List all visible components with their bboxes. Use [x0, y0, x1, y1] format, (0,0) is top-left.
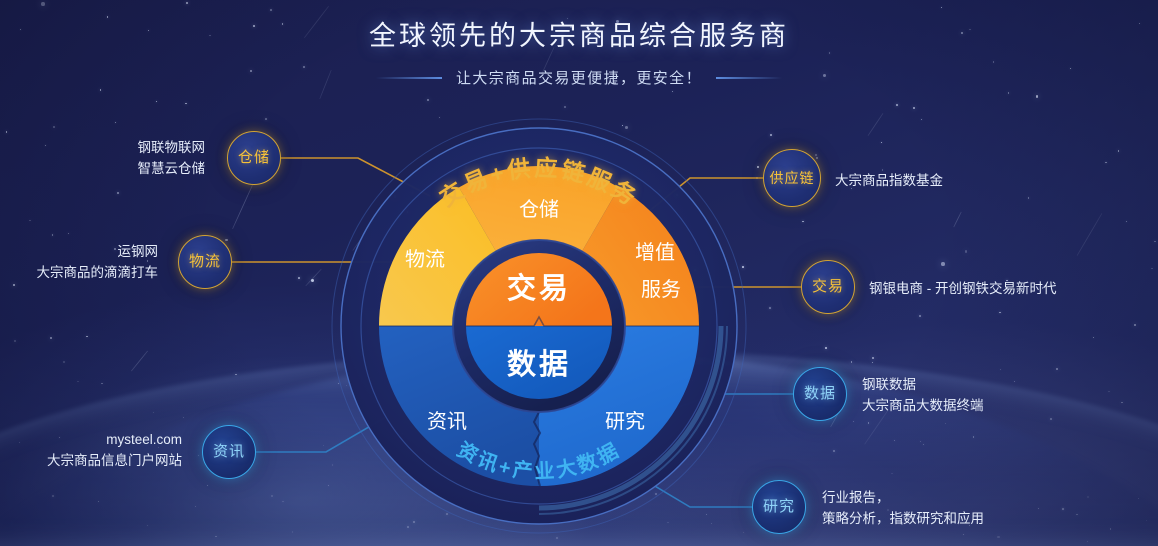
badge-supply-chain[interactable]: 供应链: [763, 149, 821, 207]
subtitle-row: 让大宗商品交易更便捷，更安全！: [0, 67, 1158, 88]
caption-warehouse-line1: 钢联物联网: [0, 138, 205, 159]
segment-label-warehouse: 仓储: [519, 198, 559, 221]
caption-warehouse: 钢联物联网 智慧云仓储: [0, 138, 205, 180]
page-title: 全球领先的大宗商品综合服务商: [0, 14, 1158, 53]
badge-information[interactable]: 资讯: [202, 425, 256, 479]
page-subtitle: 让大宗商品交易更便捷，更安全！: [456, 67, 702, 88]
caption-trading: 钢银电商 - 开创钢铁交易新时代: [869, 279, 1057, 300]
caption-warehouse-line2: 智慧云仓储: [0, 159, 205, 180]
caption-research-line1: 行业报告，: [822, 488, 984, 509]
caption-research-line2: 策略分析，指数研究和应用: [822, 509, 984, 530]
badge-logistics[interactable]: 物流: [178, 235, 232, 289]
segment-label-information: 资讯: [427, 410, 467, 433]
segment-label-value-added-1: 增值: [635, 241, 675, 264]
core-label-data: 数据: [507, 348, 571, 381]
caption-information: mysteel.com 大宗商品信息门户网站: [0, 430, 182, 472]
badge-research[interactable]: 研究: [752, 480, 806, 534]
subtitle-rule-left: [376, 77, 442, 79]
caption-supply-chain: 大宗商品指数基金: [835, 171, 943, 192]
segment-label-logistics: 物流: [405, 248, 445, 271]
badge-data[interactable]: 数据: [793, 367, 847, 421]
caption-data: 钢联数据 大宗商品大数据终端: [862, 375, 984, 417]
badge-supply-chain-label: 供应链: [770, 171, 815, 186]
core-label-trading: 交易: [507, 271, 571, 305]
caption-information-line1: mysteel.com: [0, 430, 182, 451]
title-block: 全球领先的大宗商品综合服务商 让大宗商品交易更便捷，更安全！: [0, 14, 1158, 88]
badge-logistics-label: 物流: [189, 254, 221, 270]
caption-data-line2: 大宗商品大数据终端: [862, 396, 984, 417]
caption-research: 行业报告， 策略分析，指数研究和应用: [822, 488, 984, 530]
badge-data-label: 数据: [804, 386, 836, 402]
caption-logistics-line1: 运钢网: [0, 242, 158, 263]
badge-research-label: 研究: [763, 499, 795, 515]
badge-trading[interactable]: 交易: [801, 260, 855, 314]
caption-information-line2: 大宗商品信息门户网站: [0, 451, 182, 472]
badge-warehouse[interactable]: 仓储: [227, 131, 281, 185]
segment-label-research: 研究: [605, 410, 645, 433]
infographic-canvas: 全球领先的大宗商品综合服务商 让大宗商品交易更便捷，更安全！: [0, 0, 1158, 546]
caption-supply-chain-line1: 大宗商品指数基金: [835, 171, 943, 192]
caption-logistics: 运钢网 大宗商品的滴滴打车: [0, 242, 158, 284]
subtitle-rule-right: [716, 77, 782, 79]
badge-warehouse-label: 仓储: [238, 150, 270, 166]
badge-trading-label: 交易: [812, 279, 844, 295]
caption-trading-line1: 钢银电商 - 开创钢铁交易新时代: [869, 279, 1057, 300]
caption-logistics-line2: 大宗商品的滴滴打车: [0, 263, 158, 284]
badge-information-label: 资讯: [213, 444, 245, 460]
service-wheel: 交易+供应链服务 资讯+产业大数据 物流 仓储 增值 服务 资讯 研究 交易 数…: [329, 116, 749, 536]
segment-label-value-added-2: 服务: [641, 278, 681, 301]
caption-data-line1: 钢联数据: [862, 375, 984, 396]
